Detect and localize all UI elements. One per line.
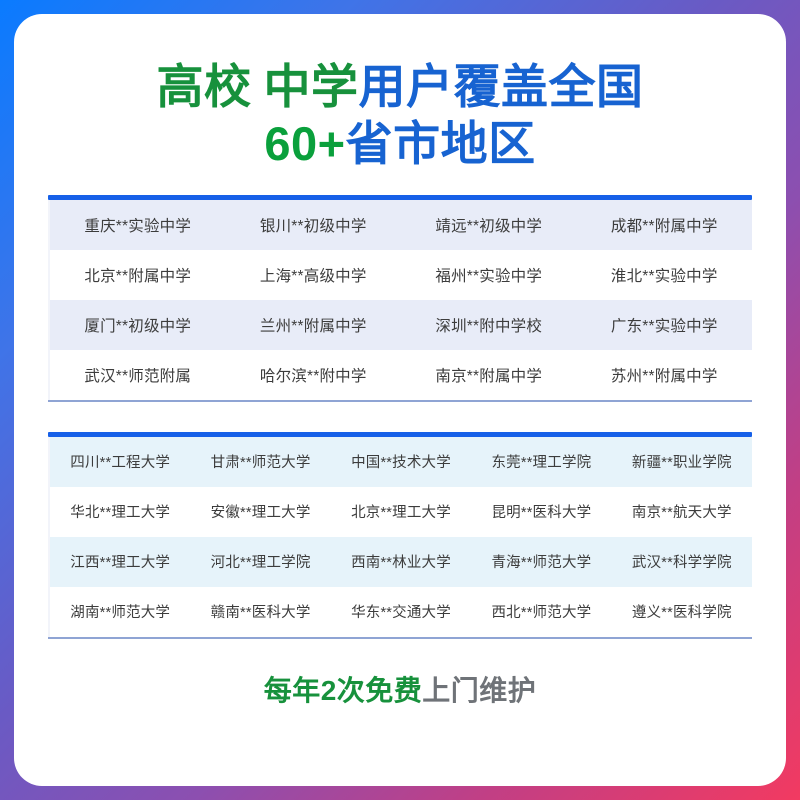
table-cell: 武汉**科学学院 [612, 551, 752, 572]
table-cell: 广东**实验中学 [577, 314, 753, 336]
table-cell: 福州**实验中学 [401, 264, 577, 286]
table-cell: 成都**附属中学 [577, 214, 753, 236]
table-row: 湖南**师范大学 赣南**医科大学 华东**交通大学 西北**师范大学 遵义**… [48, 587, 752, 637]
table-cell: 昆明**医科大学 [471, 501, 611, 522]
table-cell: 哈尔滨**附中学 [226, 364, 402, 386]
table-cell: 青海**师范大学 [471, 551, 611, 572]
table-cell: 中国**技术大学 [331, 451, 471, 472]
table-cell: 四川**工程大学 [50, 451, 190, 472]
table-cell: 北京**附属中学 [50, 264, 226, 286]
table-cell: 安徽**理工大学 [190, 501, 330, 522]
table-cell: 东莞**理工学院 [471, 451, 611, 472]
table-row: 重庆**实验中学 银川**初级中学 靖远**初级中学 成都**附属中学 [48, 200, 752, 250]
table-row: 四川**工程大学 甘肃**师范大学 中国**技术大学 东莞**理工学院 新疆**… [48, 437, 752, 487]
schools-table-rows: 重庆**实验中学 银川**初级中学 靖远**初级中学 成都**附属中学 北京**… [48, 200, 752, 400]
table-cell: 湖南**师范大学 [50, 601, 190, 622]
table-row: 华北**理工大学 安徽**理工大学 北京**理工大学 昆明**医科大学 南京**… [48, 487, 752, 537]
table-cell: 银川**初级中学 [226, 214, 402, 236]
headline-count-60plus: 60+ [264, 117, 345, 170]
headline-rest-2: 省市地区 [346, 117, 536, 170]
table-cell: 甘肃**师范大学 [190, 451, 330, 472]
table-cell: 遵义**医科学院 [612, 601, 752, 622]
table-cell: 西北**师范大学 [471, 601, 611, 622]
table-row: 北京**附属中学 上海**高级中学 福州**实验中学 淮北**实验中学 [48, 250, 752, 300]
universities-table-bottom-bar [48, 637, 752, 639]
table-cell: 苏州**附属中学 [577, 364, 753, 386]
table-cell: 淮北**实验中学 [577, 264, 753, 286]
headline-rest-1: 用户覆盖全国 [359, 60, 644, 113]
table-cell: 华北**理工大学 [50, 501, 190, 522]
table-cell: 华东**交通大学 [331, 601, 471, 622]
headline-highlight-zhongxue: 中学 [264, 60, 359, 113]
table-cell: 靖远**初级中学 [401, 214, 577, 236]
footer-rest: 上门维护 [422, 675, 536, 706]
table-cell: 南京**附属中学 [401, 364, 577, 386]
table-cell: 南京**航天大学 [612, 501, 752, 522]
footer-highlight: 每年2次免费 [264, 675, 423, 706]
table-cell: 江西**理工大学 [50, 551, 190, 572]
table-cell: 厦门**初级中学 [50, 314, 226, 336]
universities-table-rows: 四川**工程大学 甘肃**师范大学 中国**技术大学 东莞**理工学院 新疆**… [48, 437, 752, 637]
table-cell: 河北**理工学院 [190, 551, 330, 572]
table-cell: 西南**林业大学 [331, 551, 471, 572]
headline-line-1: 高校中学用户覆盖全国 [14, 58, 786, 115]
schools-table: 重庆**实验中学 银川**初级中学 靖远**初级中学 成都**附属中学 北京**… [48, 195, 752, 402]
table-cell: 新疆**职业学院 [612, 451, 752, 472]
content-card: 高校中学用户覆盖全国 60+省市地区 重庆**实验中学 银川**初级中学 靖远*… [14, 14, 786, 786]
table-cell: 兰州**附属中学 [226, 314, 402, 336]
universities-table: 四川**工程大学 甘肃**师范大学 中国**技术大学 东莞**理工学院 新疆**… [48, 432, 752, 639]
table-cell: 深圳**附中学校 [401, 314, 577, 336]
page-title: 高校中学用户覆盖全国 60+省市地区 [14, 14, 786, 173]
table-row: 武汉**师范附属 哈尔滨**附中学 南京**附属中学 苏州**附属中学 [48, 350, 752, 400]
table-row: 江西**理工大学 河北**理工学院 西南**林业大学 青海**师范大学 武汉**… [48, 537, 752, 587]
table-cell: 北京**理工大学 [331, 501, 471, 522]
footer-slogan: 每年2次免费上门维护 [14, 669, 786, 709]
table-cell: 赣南**医科大学 [190, 601, 330, 622]
table-cell: 上海**高级中学 [226, 264, 402, 286]
headline-highlight-gaoxiao: 高校 [157, 60, 252, 113]
table-row: 厦门**初级中学 兰州**附属中学 深圳**附中学校 广东**实验中学 [48, 300, 752, 350]
table-cell: 重庆**实验中学 [50, 214, 226, 236]
table-cell: 武汉**师范附属 [50, 364, 226, 386]
headline-line-2: 60+省市地区 [14, 115, 786, 172]
